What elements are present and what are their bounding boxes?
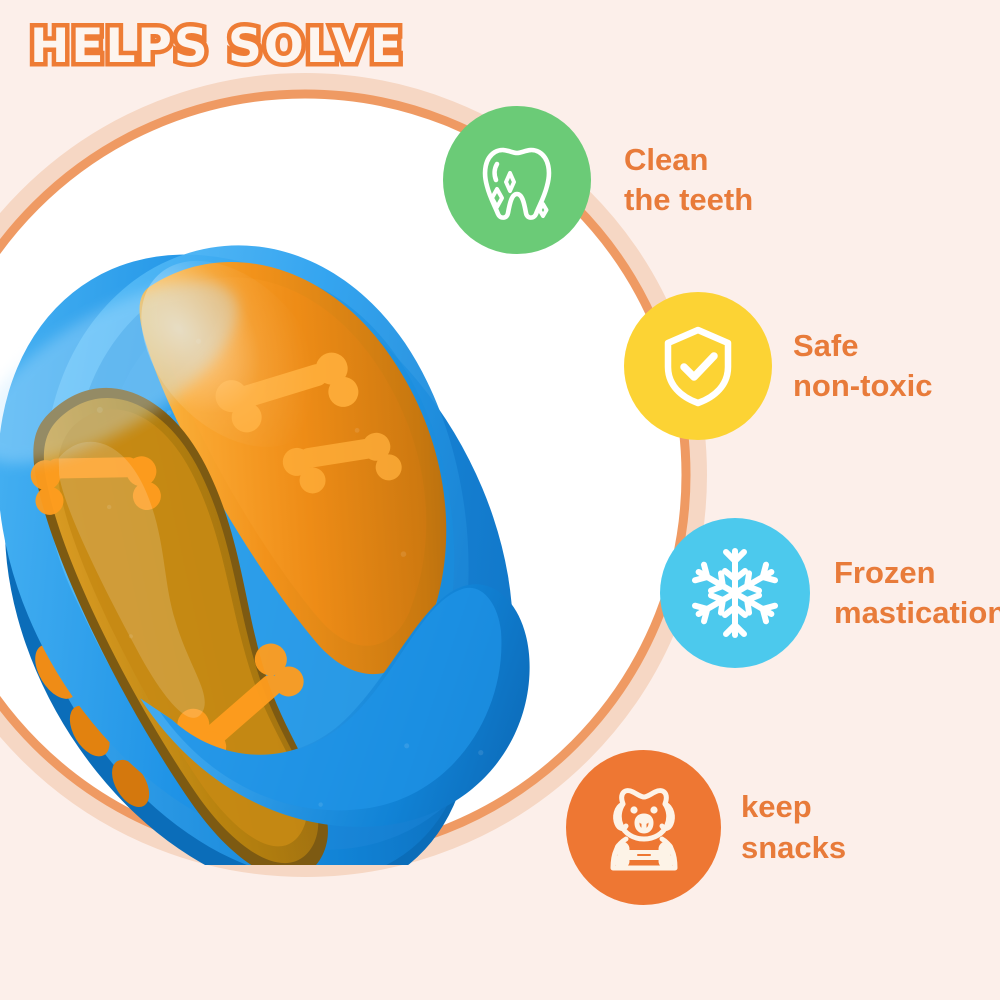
feature-line2-safe: non-toxic — [793, 366, 933, 406]
feature-badge-frozen — [660, 518, 810, 668]
feature-item-snacks[interactable]: keep snacks — [566, 750, 846, 905]
dog-with-bone-icon — [592, 776, 696, 880]
feature-badge-clean — [443, 106, 591, 254]
feature-line2-frozen: mastication — [834, 593, 1000, 633]
feature-line2-clean: the teeth — [624, 180, 753, 220]
feature-badge-snacks — [566, 750, 721, 905]
feature-label-safe: Safe non-toxic — [793, 326, 933, 407]
feature-label-clean: Clean the teeth — [624, 140, 753, 221]
product-image — [0, 185, 600, 865]
feature-line1-snacks: keep — [741, 789, 812, 824]
feature-line1-frozen: Frozen — [834, 555, 936, 590]
feature-line1-safe: Safe — [793, 328, 858, 363]
page-title: HELPS SOLVE — [30, 22, 404, 72]
feature-item-clean[interactable]: Clean the teeth — [443, 106, 753, 254]
feature-item-frozen[interactable]: Frozen mastication — [660, 518, 1000, 668]
feature-line1-clean: Clean — [624, 142, 708, 177]
feature-badge-safe — [624, 292, 772, 440]
infographic-canvas: HELPS SOLVE Clean the teeth — [0, 0, 1000, 1000]
feature-label-frozen: Frozen mastication — [834, 553, 1000, 634]
feature-line2-snacks: snacks — [741, 828, 846, 868]
snowflake-icon — [685, 543, 785, 643]
shield-check-icon — [652, 320, 744, 412]
feature-label-snacks: keep snacks — [741, 787, 846, 868]
tooth-icon — [469, 132, 565, 228]
feature-item-safe[interactable]: Safe non-toxic — [624, 292, 933, 440]
